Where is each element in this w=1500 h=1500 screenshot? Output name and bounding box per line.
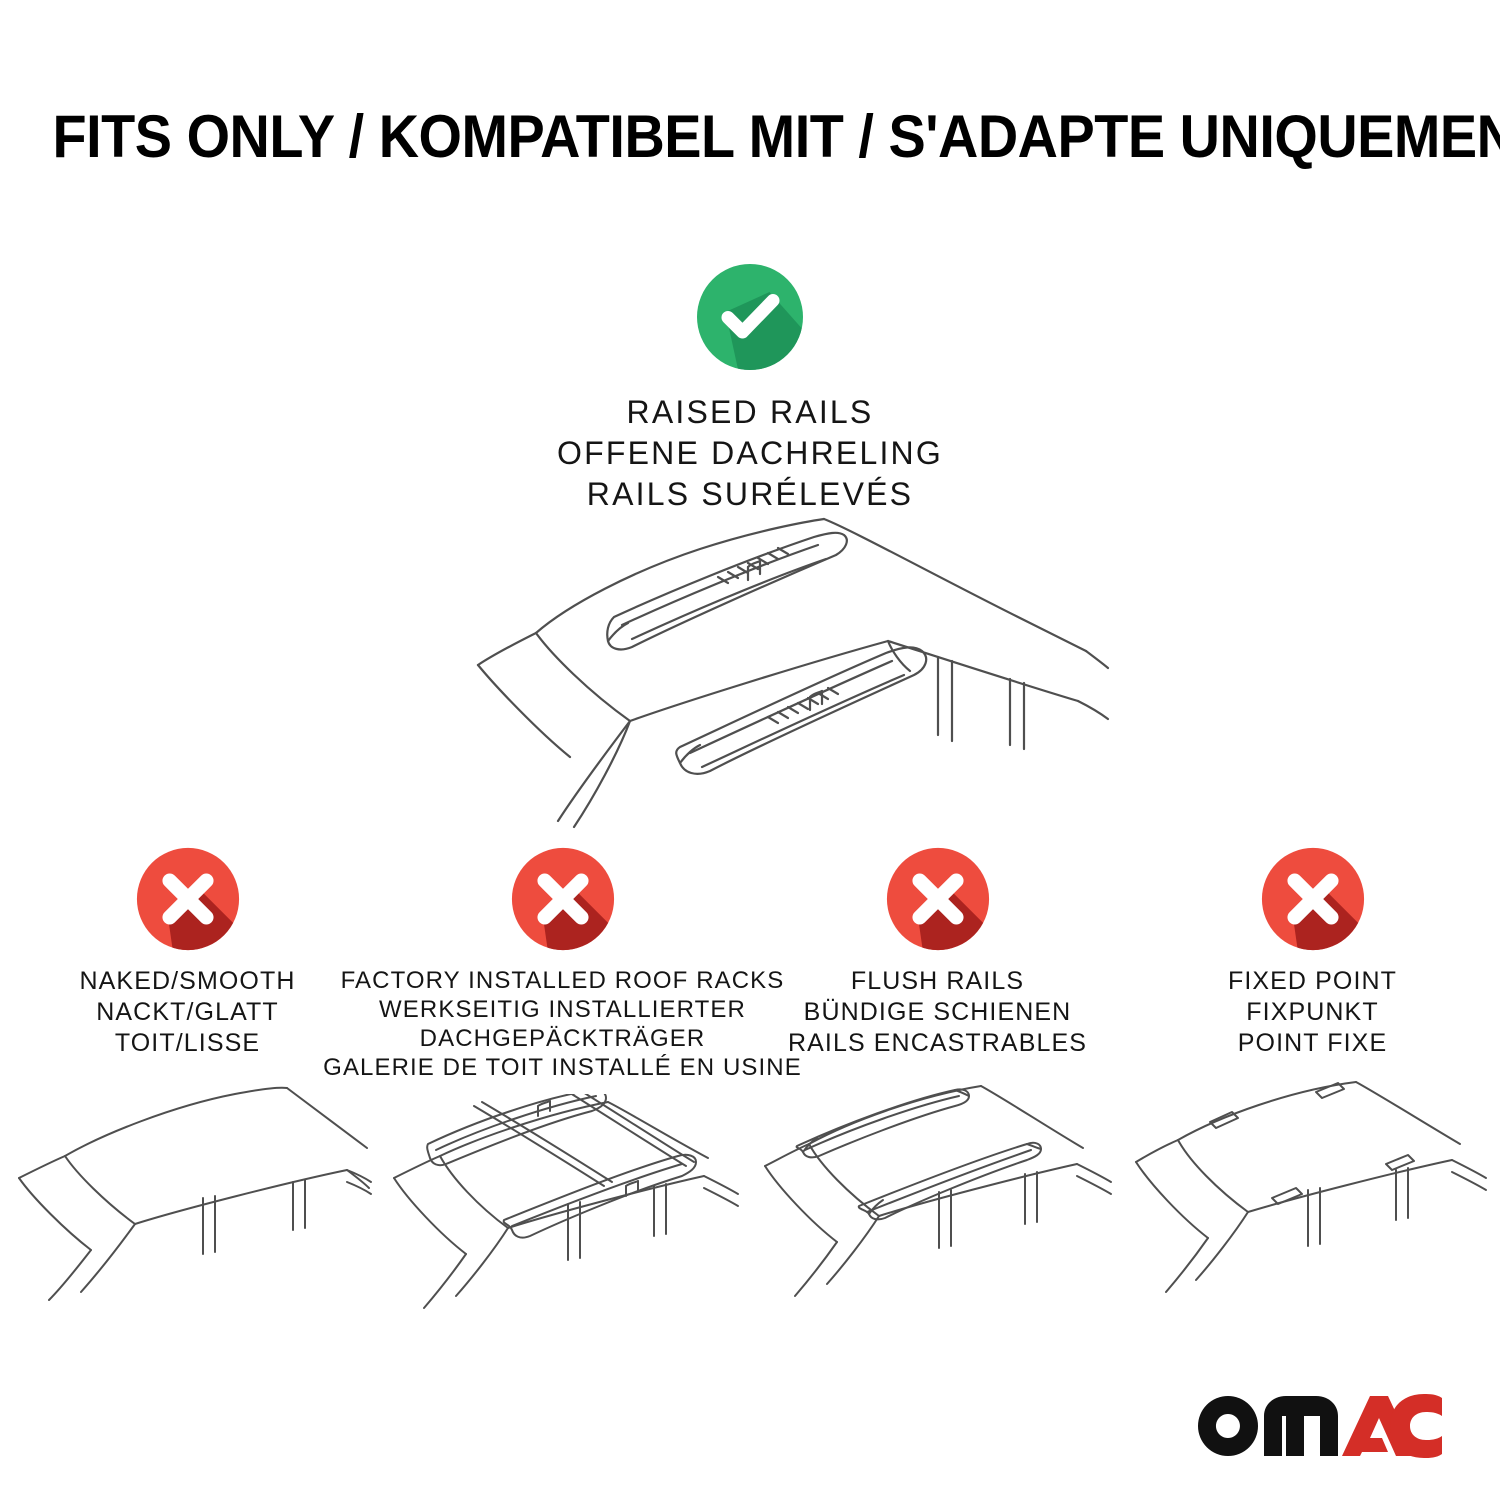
label-line-2: BÜNDIGE SCHIENEN xyxy=(788,997,1087,1028)
incompatible-item-factory-racks: FACTORY INSTALLED ROOF RACKS WERKSEITIG … xyxy=(375,846,750,1324)
compatible-label-line-1: RAISED RAILS xyxy=(0,392,1500,433)
check-circle-icon xyxy=(695,262,805,372)
label-line-1: NAKED/SMOOTH xyxy=(80,966,296,997)
car-roof-flush-rails-illustration xyxy=(753,1078,1123,1308)
incompatible-item-flush-rails: FLUSH RAILS BÜNDIGE SCHIENEN RAILS ENCAS… xyxy=(750,846,1125,1324)
compatible-label-line-2: OFFENE DACHRELING xyxy=(0,433,1500,474)
incompatible-label-flush-rails: FLUSH RAILS BÜNDIGE SCHIENEN RAILS ENCAS… xyxy=(788,966,1087,1066)
logo-letter-o xyxy=(1198,1396,1258,1456)
logo-letter-m xyxy=(1264,1396,1338,1456)
cross-circle-icon xyxy=(885,846,991,952)
incompatible-item-naked-smooth: NAKED/SMOOTH NACKT/GLATT TOIT/LISSE xyxy=(0,846,375,1324)
omac-logo xyxy=(1192,1390,1442,1464)
car-roof-raised-rails-illustration xyxy=(418,505,1118,835)
car-roof-fixed-point-illustration xyxy=(1128,1078,1498,1308)
incompatible-row: NAKED/SMOOTH NACKT/GLATT TOIT/LISSE xyxy=(0,846,1500,1324)
incompatible-label-fixed-point: FIXED POINT FIXPUNKT POINT FIXE xyxy=(1228,966,1397,1066)
label-line-3: DACHGEPÄCKTRÄGER xyxy=(323,1024,802,1053)
cross-circle-icon xyxy=(510,846,616,952)
cross-circle-icon xyxy=(1260,846,1366,952)
label-line-3: TOIT/LISSE xyxy=(80,1028,296,1059)
page-title: FITS ONLY / KOMPATIBEL MIT / S'ADAPTE UN… xyxy=(53,104,1448,170)
incompatible-item-fixed-point: FIXED POINT FIXPUNKT POINT FIXE xyxy=(1125,846,1500,1324)
label-line-1: FLUSH RAILS xyxy=(788,966,1087,997)
incompatible-label-factory-racks: FACTORY INSTALLED ROOF RACKS WERKSEITIG … xyxy=(323,966,802,1082)
label-line-1: FIXED POINT xyxy=(1228,966,1397,997)
label-line-2: NACKT/GLATT xyxy=(80,997,296,1028)
cross-circle-icon xyxy=(135,846,241,952)
label-line-2: FIXPUNKT xyxy=(1228,997,1397,1028)
label-line-3: POINT FIXE xyxy=(1228,1028,1397,1059)
car-roof-naked-smooth-illustration xyxy=(3,1078,373,1308)
label-line-1: FACTORY INSTALLED ROOF RACKS xyxy=(323,966,802,995)
label-line-3: RAILS ENCASTRABLES xyxy=(788,1028,1087,1059)
infographic-page: FITS ONLY / KOMPATIBEL MIT / S'ADAPTE UN… xyxy=(0,0,1500,1500)
car-roof-factory-racks-illustration xyxy=(378,1094,748,1324)
compatible-block: RAISED RAILS OFFENE DACHRELING RAILS SUR… xyxy=(0,262,1500,515)
label-line-4: GALERIE DE TOIT INSTALLÉ EN USINE xyxy=(323,1053,802,1082)
incompatible-label-naked-smooth: NAKED/SMOOTH NACKT/GLATT TOIT/LISSE xyxy=(80,966,296,1066)
label-line-2: WERKSEITIG INSTALLIERTER xyxy=(323,995,802,1024)
